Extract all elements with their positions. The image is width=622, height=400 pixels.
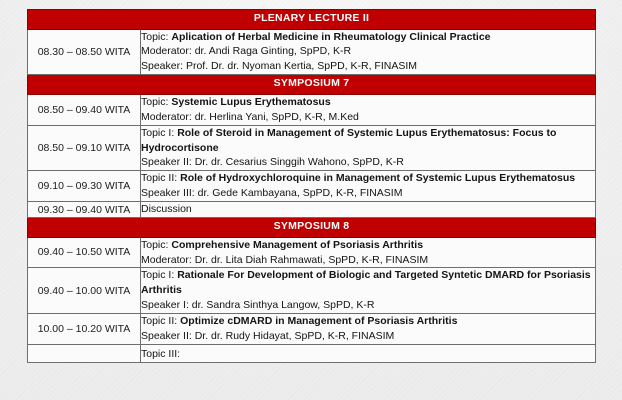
session-time: 09.10 – 09.30 WITA xyxy=(28,171,141,202)
session-detail-line: Moderator: dr. Andi Raga Ginting, SpPD, … xyxy=(141,44,595,59)
session-detail-line: Speaker III: dr. Gede Kambayana, SpPD, K… xyxy=(141,186,595,201)
detail-label: Topic II: xyxy=(141,172,180,184)
schedule-row: 09.40 – 10.50 WITATopic: Comprehensive M… xyxy=(28,237,596,268)
detail-value: Prof. Dr. dr. Nyoman Kertia, SpPD, K-R, … xyxy=(186,60,417,72)
session-detail-line: Topic: Comprehensive Management of Psori… xyxy=(141,238,595,253)
schedule-row: 09.40 – 10.00 WITATopic I: Rationale For… xyxy=(28,268,596,314)
schedule-row: 09.30 – 09.40 WITADiscussion xyxy=(28,202,596,218)
detail-value: dr. Sandra Sinthya Langow, SpPD, K-R xyxy=(192,299,375,311)
detail-label: Speaker III: xyxy=(141,187,198,199)
detail-value: Discussion xyxy=(141,203,192,215)
detail-label: Moderator: xyxy=(141,254,195,266)
detail-value: Dr. dr. Rudy Hidayat, SpPD, K-R, FINASIM xyxy=(195,330,395,342)
session-details: Topic I: Role of Steroid in Management o… xyxy=(141,125,596,171)
section-heading: SYMPOSIUM 8 xyxy=(28,218,596,238)
detail-label: Topic: xyxy=(141,96,171,108)
session-time: 09.40 – 10.00 WITA xyxy=(28,268,141,314)
section-header-row: SYMPOSIUM 7 xyxy=(28,75,596,95)
detail-value: dr. Gede Kambayana, SpPD, K-R, FINASIM xyxy=(198,187,403,199)
section-header-row: PLENARY LECTURE II xyxy=(28,10,596,30)
detail-value: Dr. dr. Cesarius Singgih Wahono, SpPD, K… xyxy=(195,156,404,168)
session-detail-line: Discussion xyxy=(141,202,595,217)
session-detail-line: Topic I: Role of Steroid in Management o… xyxy=(141,126,595,156)
detail-value: dr. Herlina Yani, SpPD, K-R, M.Ked xyxy=(195,111,359,123)
session-time: 08.30 – 08.50 WITA xyxy=(28,29,141,75)
detail-label: Topic I: xyxy=(141,269,177,281)
detail-label: Topic III: xyxy=(141,348,180,360)
detail-label: Topic: xyxy=(141,239,171,251)
schedule-row: 08.50 – 09.10 WITATopic I: Role of Stero… xyxy=(28,125,596,171)
schedule-row: Topic III: xyxy=(28,344,596,362)
section-heading: PLENARY LECTURE II xyxy=(28,10,596,30)
session-details: Discussion xyxy=(141,202,596,218)
detail-label: Speaker I: xyxy=(141,299,192,311)
detail-value: Optimize cDMARD in Management of Psorias… xyxy=(180,315,457,327)
detail-value: Dr. dr. Lita Diah Rahmawati, SpPD, K-R, … xyxy=(195,254,428,266)
session-detail-line: Speaker II: Dr. dr. Cesarius Singgih Wah… xyxy=(141,155,595,170)
session-detail-line: Speaker I: dr. Sandra Sinthya Langow, Sp… xyxy=(141,298,595,313)
session-detail-line: Topic I: Rationale For Development of Bi… xyxy=(141,268,595,298)
detail-label: Topic: xyxy=(141,31,171,43)
session-details: Topic I: Rationale For Development of Bi… xyxy=(141,268,596,314)
session-detail-line: Moderator: Dr. dr. Lita Diah Rahmawati, … xyxy=(141,253,595,268)
detail-label: Topic II: xyxy=(141,315,180,327)
detail-value: Role of Hydroxychloroquine in Management… xyxy=(180,172,575,184)
schedule-row: 08.30 – 08.50 WITATopic: Aplication of H… xyxy=(28,29,596,75)
session-detail-line: Moderator: dr. Herlina Yani, SpPD, K-R, … xyxy=(141,110,595,125)
session-time xyxy=(28,344,141,362)
detail-value: Aplication of Herbal Medicine in Rheumat… xyxy=(171,31,490,43)
detail-value: Rationale For Development of Biologic an… xyxy=(141,269,591,296)
session-time: 09.30 – 09.40 WITA xyxy=(28,202,141,218)
detail-label: Moderator: xyxy=(141,111,195,123)
schedule-row: 09.10 – 09.30 WITATopic II: Role of Hydr… xyxy=(28,171,596,202)
schedule-container: PLENARY LECTURE II08.30 – 08.50 WITATopi… xyxy=(27,9,596,363)
detail-value: dr. Andi Raga Ginting, SpPD, K-R xyxy=(195,45,351,57)
session-details: Topic: Aplication of Herbal Medicine in … xyxy=(141,29,596,75)
detail-value: Role of Steroid in Management of Systemi… xyxy=(141,127,556,154)
session-time: 09.40 – 10.50 WITA xyxy=(28,237,141,268)
session-details: Topic II: Optimize cDMARD in Management … xyxy=(141,314,596,345)
detail-label: Topic I: xyxy=(141,127,177,139)
session-details: Topic III: xyxy=(141,344,596,362)
schedule-row: 10.00 – 10.20 WITATopic II: Optimize cDM… xyxy=(28,314,596,345)
detail-label: Speaker: xyxy=(141,60,186,72)
session-details: Topic: Systemic Lupus ErythematosusModer… xyxy=(141,94,596,125)
session-detail-line: Topic: Systemic Lupus Erythematosus xyxy=(141,95,595,110)
session-detail-line: Speaker II: Dr. dr. Rudy Hidayat, SpPD, … xyxy=(141,329,595,344)
session-time: 10.00 – 10.20 WITA xyxy=(28,314,141,345)
session-time: 08.50 – 09.40 WITA xyxy=(28,94,141,125)
detail-label: Moderator: xyxy=(141,45,195,57)
detail-label: Speaker II: xyxy=(141,156,195,168)
detail-value: Systemic Lupus Erythematosus xyxy=(171,96,330,108)
session-detail-line: Topic III: xyxy=(141,347,595,362)
schedule-table: PLENARY LECTURE II08.30 – 08.50 WITATopi… xyxy=(27,9,596,363)
session-time: 08.50 – 09.10 WITA xyxy=(28,125,141,171)
schedule-row: 08.50 – 09.40 WITATopic: Systemic Lupus … xyxy=(28,94,596,125)
session-detail-line: Speaker: Prof. Dr. dr. Nyoman Kertia, Sp… xyxy=(141,59,595,74)
session-detail-line: Topic: Aplication of Herbal Medicine in … xyxy=(141,30,595,45)
session-details: Topic: Comprehensive Management of Psori… xyxy=(141,237,596,268)
session-details: Topic II: Role of Hydroxychloroquine in … xyxy=(141,171,596,202)
section-header-row: SYMPOSIUM 8 xyxy=(28,218,596,238)
session-detail-line: Topic II: Role of Hydroxychloroquine in … xyxy=(141,171,595,186)
detail-value: Comprehensive Management of Psoriasis Ar… xyxy=(171,239,423,251)
detail-label: Speaker II: xyxy=(141,330,195,342)
section-heading: SYMPOSIUM 7 xyxy=(28,75,596,95)
session-detail-line: Topic II: Optimize cDMARD in Management … xyxy=(141,314,595,329)
